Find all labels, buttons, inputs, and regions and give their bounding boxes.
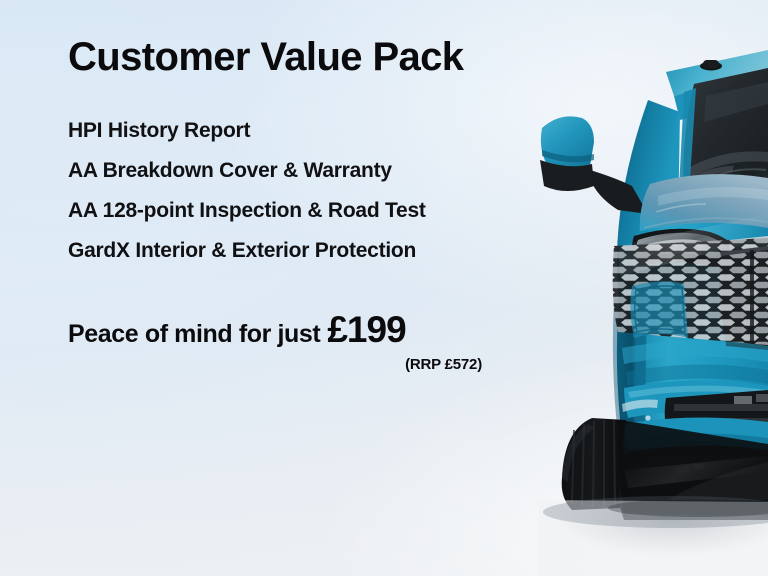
promo-copy: Customer Value Pack HPI History Report A… <box>68 36 538 373</box>
list-item: GardX Interior & Exterior Protection <box>68 240 538 261</box>
page-title: Customer Value Pack <box>68 36 538 78</box>
price-headline: Peace of mind for just £199 <box>68 309 538 351</box>
vehicle-photo <box>498 0 768 576</box>
front-tire <box>562 418 626 510</box>
price-block: Peace of mind for just £199 (RRP £572) <box>68 309 538 373</box>
price-amount: £199 <box>327 309 405 351</box>
price-rrp-note: (RRP £572) <box>68 356 482 373</box>
list-item: AA Breakdown Cover & Warranty <box>68 160 538 181</box>
benefit-list: HPI History Report AA Breakdown Cover & … <box>68 120 538 261</box>
list-item: HPI History Report <box>68 120 538 141</box>
list-item: AA 128-point Inspection & Road Test <box>68 200 538 221</box>
price-lead-text: Peace of mind for just <box>68 320 320 349</box>
promo-banner: Customer Value Pack HPI History Report A… <box>0 0 768 576</box>
